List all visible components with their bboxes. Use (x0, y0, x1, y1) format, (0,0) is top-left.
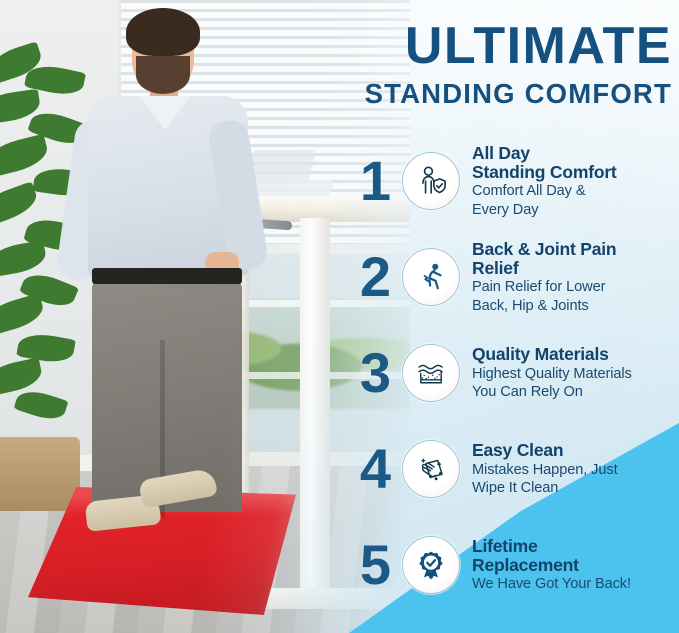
benefit-number-1: 1 (352, 153, 398, 209)
benefit-number-3: 3 (352, 345, 398, 401)
benefit-title-line1-2: Back & Joint Pain (472, 240, 679, 259)
benefit-row-1: 1 All Day Standing Comfort Comfort All D… (352, 133, 679, 229)
person-hair (126, 8, 200, 56)
benefit-subtitle-line1-1: Comfort All Day & (472, 183, 679, 199)
plant-pot (0, 437, 80, 511)
benefit-subtitle-line1-3: Highest Quality Materials (472, 366, 679, 382)
headline-secondary: STANDING COMFORT (306, 78, 672, 110)
benefit-row-5: 5 Lifetime Replacement We Have Got Your … (352, 517, 679, 613)
benefit-title-line2-1: Standing Comfort (472, 163, 679, 182)
benefit-number-5: 5 (352, 537, 398, 593)
benefit-subtitle-line2-4: Wipe It Clean (472, 480, 679, 496)
benefit-title-line1-5: Lifetime (472, 537, 679, 556)
foam-layers-icon (402, 344, 460, 402)
benefit-text-3: Quality Materials Highest Quality Materi… (470, 345, 679, 400)
person-belt (92, 268, 242, 284)
benefit-subtitle-line2-2: Back, Hip & Joints (472, 298, 679, 314)
benefit-row-4: 4 Easy Clean Mistakes Happen, J (352, 421, 679, 517)
award-badge-check-icon (402, 536, 460, 594)
benefit-subtitle-line1-2: Pain Relief for Lower (472, 279, 679, 295)
benefit-title-line1-1: All Day (472, 144, 679, 163)
benefit-title-line1-3: Quality Materials (472, 345, 679, 364)
back-pain-person-icon (402, 248, 460, 306)
benefit-text-4: Easy Clean Mistakes Happen, Just Wipe It… (470, 441, 679, 496)
person-shield-icon (402, 152, 460, 210)
benefit-text-5: Lifetime Replacement We Have Got Your Ba… (470, 537, 679, 592)
person-beard (136, 56, 190, 94)
benefits-list: 1 All Day Standing Comfort Comfort All D… (352, 133, 679, 613)
benefit-row-3: 3 Quality Materials Highest (352, 325, 679, 421)
benefit-text-1: All Day Standing Comfort Comfort All Day… (470, 144, 679, 218)
product-feature-graphic: ULTIMATE STANDING COMFORT 1 All Day Stan… (0, 0, 679, 633)
wiping-hand-sparkle-icon (402, 440, 460, 498)
benefit-row-2: 2 Back & Joint Pain Relief Pain Relief f… (352, 229, 679, 325)
benefit-title-line1-4: Easy Clean (472, 441, 679, 460)
desk-leg-front (300, 218, 330, 590)
benefit-title-line2-2: Relief (472, 259, 679, 278)
benefit-subtitle-line1-4: Mistakes Happen, Just (472, 462, 679, 478)
benefit-subtitle-line2-3: You Can Rely On (472, 384, 679, 400)
benefit-subtitle-line2-1: Every Day (472, 202, 679, 218)
monitor (246, 150, 315, 184)
benefit-subtitle-line1-5: We Have Got Your Back! (472, 576, 679, 592)
benefit-title-line2-5: Replacement (472, 556, 679, 575)
headline-block: ULTIMATE STANDING COMFORT (306, 20, 672, 110)
headline-primary: ULTIMATE (306, 20, 672, 73)
benefit-text-2: Back & Joint Pain Relief Pain Relief for… (470, 240, 679, 314)
benefit-number-2: 2 (352, 249, 398, 305)
benefit-number-4: 4 (352, 441, 398, 497)
